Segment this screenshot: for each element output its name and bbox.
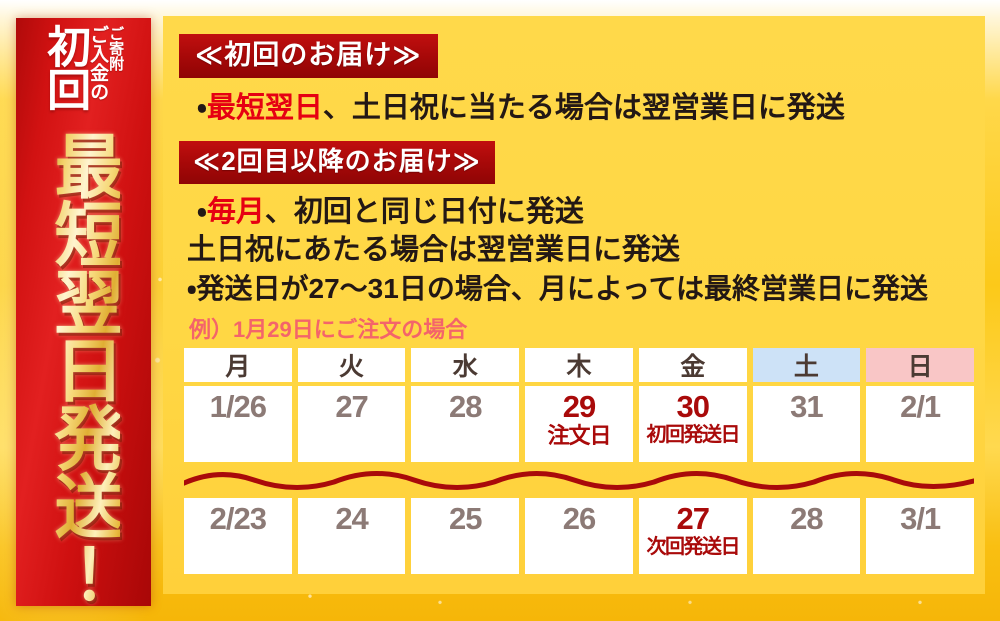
calendar-day-number: 3/1 — [900, 503, 940, 536]
weekday-cell-wed: 水 — [411, 348, 519, 382]
section-first-delivery: ≪初回のお届け≫ ・最短翌日、土日祝に当たる場合は翌営業日に発送 — [179, 34, 969, 127]
weekday-cell-sun: 日 — [866, 348, 974, 382]
subsequent-delivery-line-2: 土日祝にあたる場合は翌営業日に発送 — [187, 232, 969, 269]
calendar-day-cell: 2/1 — [866, 386, 974, 462]
calendar-day-cell: 3/1 — [866, 498, 974, 574]
first-delivery-line-1: ・最短翌日、土日祝に当たる場合は翌営業日に発送 — [197, 90, 969, 127]
calendar-day-cell-first-ship: 30 初回発送日 — [639, 386, 747, 462]
calendar-day-number: 2/1 — [900, 391, 940, 424]
calendar-day-number: 31 — [790, 391, 822, 424]
section-first-delivery-header: ≪初回のお届け≫ — [179, 34, 438, 78]
calendar-day-number: 30 — [676, 391, 708, 424]
calendar-weekday-header: 月 火 水 木 金 土 日 — [184, 348, 974, 382]
banner-headline-wrap: 最短翌日発送！ — [47, 126, 120, 606]
calendar-day-number: 29 — [563, 391, 595, 424]
weekday-cell-sat: 土 — [753, 348, 861, 382]
first-delivery-rest: 、土日祝に当たる場合は翌営業日に発送 — [323, 92, 845, 124]
calendar-day-cell-order-date: 29 注文日 — [525, 386, 633, 462]
calendar-day-number: 28 — [790, 503, 822, 536]
calendar-row-first-month: 1/26 27 28 29 注文日 30 初回発送日 31 — [184, 386, 974, 462]
weekday-cell-tue: 火 — [298, 348, 406, 382]
calendar-day-cell: 2/23 — [184, 498, 292, 574]
calendar-day-number: 27 — [676, 503, 708, 536]
subsequent-delivery-rest: 、初回と同じ日付に発送 — [265, 196, 584, 228]
calendar-day-number: 25 — [449, 503, 481, 536]
calendar-day-cell: 26 — [525, 498, 633, 574]
bullet-mark: ・ — [197, 92, 207, 124]
calendar-day-cell-next-ship: 27 次回発送日 — [639, 498, 747, 574]
calendar-row-second-month: 2/23 24 25 26 27 次回発送日 28 — [184, 498, 974, 574]
section-subsequent-delivery: ≪2回目以降のお届け≫ ・毎月、初回と同じ日付に発送 土日祝にあたる場合は翌営業… — [179, 141, 969, 306]
banner-subtitle-group: ご寄附 ご入金の 初回 — [16, 18, 151, 126]
bullet-mark: ・ — [187, 273, 197, 304]
subsequent-delivery-line-3: ・発送日が27〜31日の場合、月によっては最終営業日に発送 — [187, 271, 969, 306]
calendar-day-number: 28 — [449, 391, 481, 424]
calendar-day-note: 次回発送日 — [646, 536, 739, 558]
bullet-mark: ・ — [197, 196, 207, 228]
info-panel: ≪初回のお届け≫ ・最短翌日、土日祝に当たる場合は翌営業日に発送 ≪2回目以降の… — [163, 16, 985, 594]
weekday-cell-mon: 月 — [184, 348, 292, 382]
banner-kifu-label: ご寄附 — [108, 24, 123, 71]
calendar-day-cell: 27 — [298, 386, 406, 462]
shipping-calendar: 月 火 水 木 金 土 日 1/26 27 28 29 — [184, 348, 974, 574]
calendar-day-cell: 28 — [753, 498, 861, 574]
red-vertical-banner: ご寄附 ご入金の 初回 最短翌日発送！ — [16, 18, 151, 606]
weekday-cell-fri: 金 — [639, 348, 747, 382]
calendar-day-cell: 1/26 — [184, 386, 292, 462]
banner-headline: 最短翌日発送！ — [47, 130, 120, 606]
promo-banner-canvas: ご寄附 ご入金の 初回 最短翌日発送！ ≪初回のお届け≫ ・最短翌日、土日祝に当… — [0, 0, 1000, 621]
subsequent-delivery-line-1: ・毎月、初回と同じ日付に発送 — [197, 194, 969, 231]
subsequent-delivery-rest-3: 発送日が27〜31日の場合、月によっては最終営業日に発送 — [197, 273, 929, 304]
calendar-day-cell: 28 — [411, 386, 519, 462]
weekday-cell-thu: 木 — [525, 348, 633, 382]
first-delivery-highlight: 最短翌日 — [207, 92, 323, 124]
calendar-day-number: 2/23 — [210, 503, 266, 536]
banner-nyukin-label: ご入金の — [88, 24, 107, 101]
subsequent-delivery-highlight: 毎月 — [207, 196, 265, 228]
calendar-day-note: 初回発送日 — [646, 424, 739, 446]
calendar-day-note: 注文日 — [547, 424, 610, 448]
example-note: 例）1月29日にご注文の場合 — [189, 312, 969, 344]
calendar-day-number: 24 — [335, 503, 367, 536]
section-subsequent-delivery-header: ≪2回目以降のお届け≫ — [179, 141, 495, 184]
calendar-wave-divider — [184, 462, 974, 498]
calendar-day-number: 1/26 — [210, 391, 266, 424]
calendar-day-cell: 24 — [298, 498, 406, 574]
calendar-day-number: 27 — [335, 391, 367, 424]
calendar-day-cell: 31 — [753, 386, 861, 462]
calendar-day-number: 26 — [563, 503, 595, 536]
calendar-day-cell: 25 — [411, 498, 519, 574]
banner-shokai-label: 初回 — [44, 24, 85, 110]
